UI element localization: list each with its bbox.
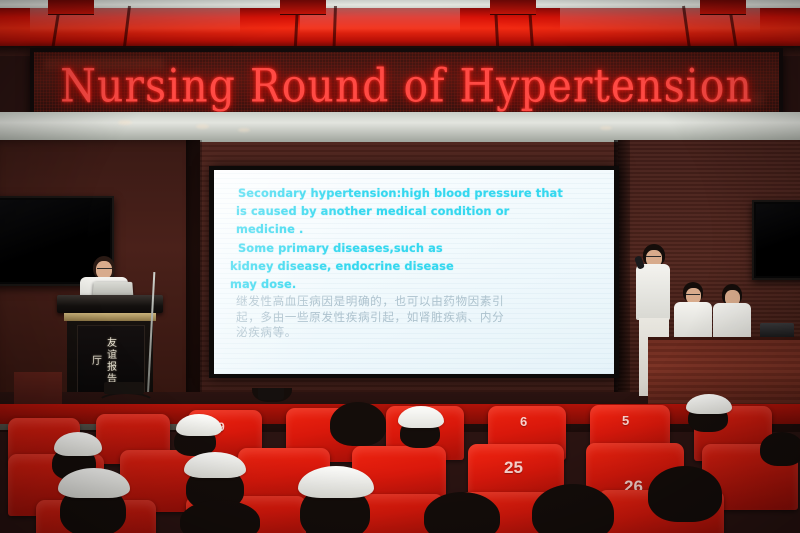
seat-number: 6 — [520, 414, 527, 429]
slide-line: medicine . — [228, 220, 604, 238]
slide-cn-line: 继发性高血压病因是明确的，也可以由药物因素引 — [236, 294, 604, 310]
nurse-cap — [54, 432, 102, 456]
led-banner-panel: Nursing Round of Hypertension — [34, 52, 779, 120]
wall-seam-left — [186, 140, 202, 410]
ceiling-bracket — [700, 0, 746, 15]
glasses-icon — [97, 268, 112, 272]
projection-screen: Secondary hypertension:high blood pressu… — [214, 170, 614, 374]
glasses-icon — [686, 294, 700, 298]
ceiling-spotlight — [238, 128, 250, 132]
ceiling-bracket — [490, 0, 536, 15]
slide-cn-line: 泌疾病等。 — [236, 325, 604, 341]
slide-cn-line: 起，多由一些原发性疾病引起，如肾脏疾病、内分 — [236, 310, 604, 326]
ceiling-spotlight — [118, 120, 132, 125]
ceiling-bracket — [48, 0, 94, 15]
led-banner-text: Nursing Round of Hypertension — [60, 59, 753, 113]
camera-icon — [258, 388, 284, 400]
nurse-cap — [686, 394, 732, 414]
ceiling-bracket — [280, 0, 326, 15]
slide-line: is caused by another medical condition o… — [228, 202, 604, 220]
slide-line: kidney disease, endocrine disease — [228, 257, 604, 275]
slide-line: Secondary hypertension:high blood pressu… — [228, 184, 604, 202]
audience-seating: 9 7 6 5 25 26 — [0, 388, 800, 533]
glasses-icon — [646, 256, 661, 260]
slide-english-text: Secondary hypertension:high blood pressu… — [228, 184, 604, 293]
presentation-slide: Secondary hypertension:high blood pressu… — [214, 170, 614, 374]
ceiling-spotlight — [600, 126, 612, 130]
lecture-hall-photo: Nursing Round of Hypertension Secondary … — [0, 0, 800, 533]
ceiling-spotlight — [196, 124, 209, 129]
seat-number: 25 — [504, 458, 523, 478]
seat-number: 5 — [622, 413, 629, 428]
slide-line: may dose. — [228, 275, 604, 293]
wall-upper-light-strip — [0, 112, 800, 142]
slide-line: Some primary diseases,such as — [228, 239, 604, 257]
slide-chinese-text: 继发性高血压病因是明确的，也可以由药物因素引 起，多由一些原发性疾病引起，如肾脏… — [228, 294, 604, 341]
monitor-icon — [752, 200, 800, 280]
